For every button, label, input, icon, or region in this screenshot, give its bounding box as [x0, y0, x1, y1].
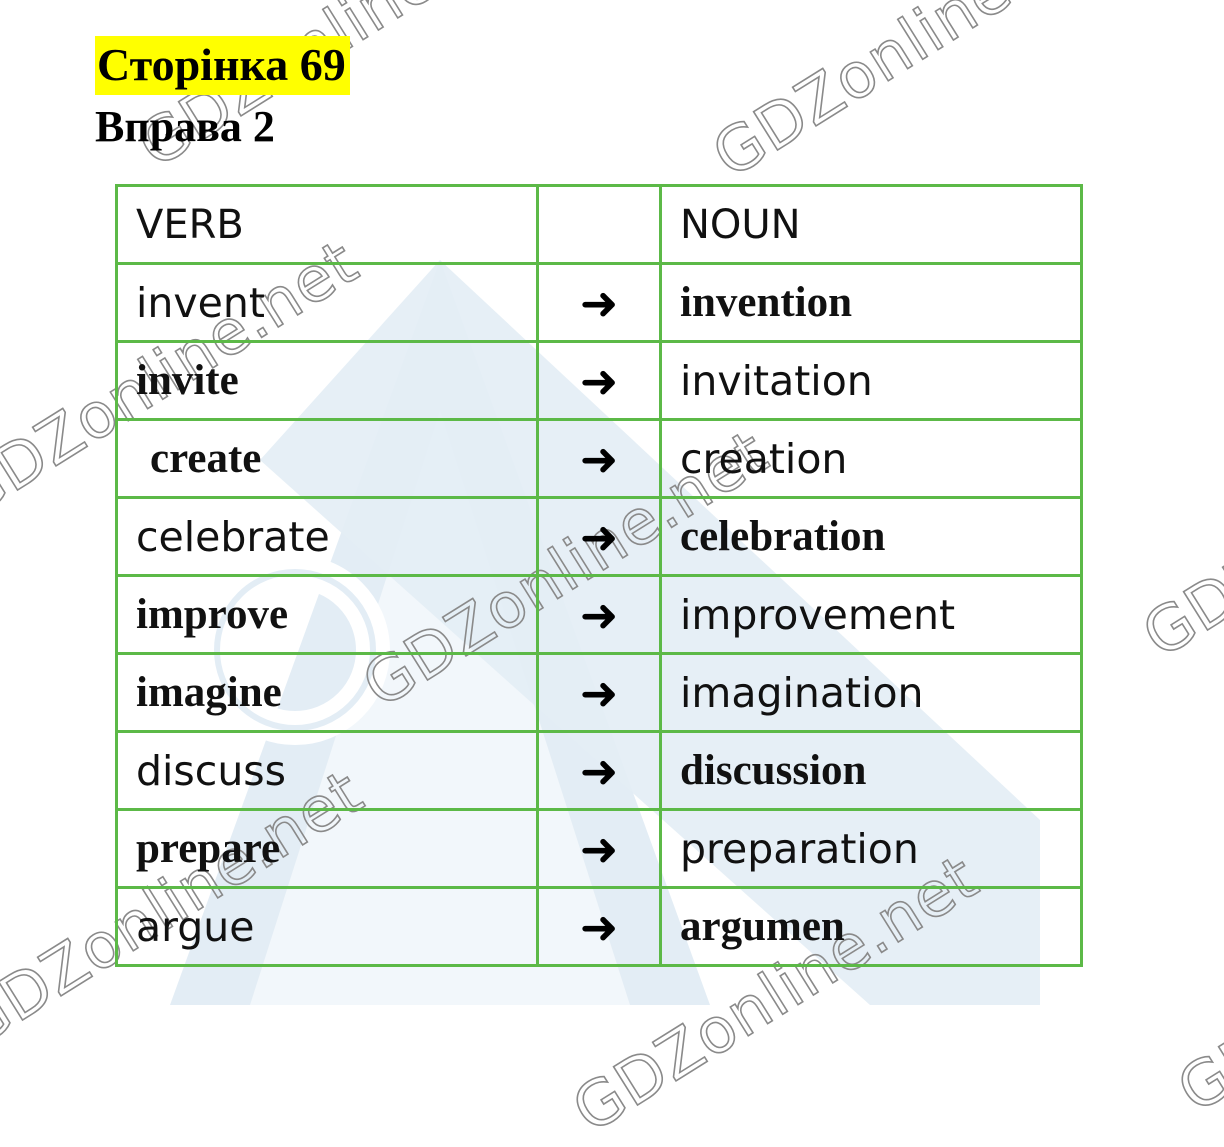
arrow-right-icon: ➜ [580, 436, 619, 482]
verb-cell: celebrate [117, 498, 538, 576]
arrow-cell: ➜ [538, 810, 661, 888]
watermark-text-4: GDZonline.net [1130, 365, 1224, 672]
watermark-text-1: GDZonline.net [700, 0, 1130, 192]
noun-cell: preparation [661, 810, 1082, 888]
verb-cell: invite [117, 342, 538, 420]
noun-cell: invitation [661, 342, 1082, 420]
arrow-right-icon: ➜ [580, 670, 619, 716]
arrow-right-icon: ➜ [580, 748, 619, 794]
arrow-cell: ➜ [538, 342, 661, 420]
noun-cell: creation [661, 420, 1082, 498]
column-header-verb: VERB [117, 186, 538, 264]
table-row: imagine➜imagination [117, 654, 1082, 732]
page-title: Сторінка 69 [95, 36, 350, 95]
watermark-text-7: GDZonline.net [1165, 820, 1224, 1127]
table-row: celebrate➜celebration [117, 498, 1082, 576]
verb-cell: prepare [117, 810, 538, 888]
noun-cell: imagination [661, 654, 1082, 732]
arrow-cell: ➜ [538, 654, 661, 732]
table-row: discuss➜discussion [117, 732, 1082, 810]
table-row: argue➜argumen [117, 888, 1082, 966]
noun-cell: improvement [661, 576, 1082, 654]
arrow-cell: ➜ [538, 732, 661, 810]
verb-cell: improve [117, 576, 538, 654]
arrow-right-icon: ➜ [580, 514, 619, 560]
arrow-right-icon: ➜ [580, 904, 619, 950]
table-header-row: VERB NOUN [117, 186, 1082, 264]
table-row: invite➜invitation [117, 342, 1082, 420]
arrow-cell: ➜ [538, 888, 661, 966]
arrow-right-icon: ➜ [580, 826, 619, 872]
arrow-cell: ➜ [538, 576, 661, 654]
table-row: create➜creation [117, 420, 1082, 498]
column-header-noun: NOUN [661, 186, 1082, 264]
arrow-right-icon: ➜ [580, 358, 619, 404]
noun-cell: celebration [661, 498, 1082, 576]
table-row: invent➜invention [117, 264, 1082, 342]
verb-cell: discuss [117, 732, 538, 810]
arrow-cell: ➜ [538, 420, 661, 498]
table-row: improve➜improvement [117, 576, 1082, 654]
arrow-cell: ➜ [538, 264, 661, 342]
arrow-cell: ➜ [538, 498, 661, 576]
heading-block: Сторінка 69 Вправа 2 [95, 36, 350, 154]
verb-cell: create [117, 420, 538, 498]
verb-noun-table: VERB NOUN invent➜inventioninvite➜invitat… [115, 184, 1083, 967]
column-header-blank [538, 186, 661, 264]
noun-cell: invention [661, 264, 1082, 342]
verb-cell: invent [117, 264, 538, 342]
arrow-right-icon: ➜ [580, 592, 619, 638]
exercise-title: Вправа 2 [95, 101, 350, 154]
verb-cell: argue [117, 888, 538, 966]
arrow-right-icon: ➜ [580, 280, 619, 326]
table-row: prepare➜preparation [117, 810, 1082, 888]
noun-cell: argumen [661, 888, 1082, 966]
verb-cell: imagine [117, 654, 538, 732]
noun-cell: discussion [661, 732, 1082, 810]
